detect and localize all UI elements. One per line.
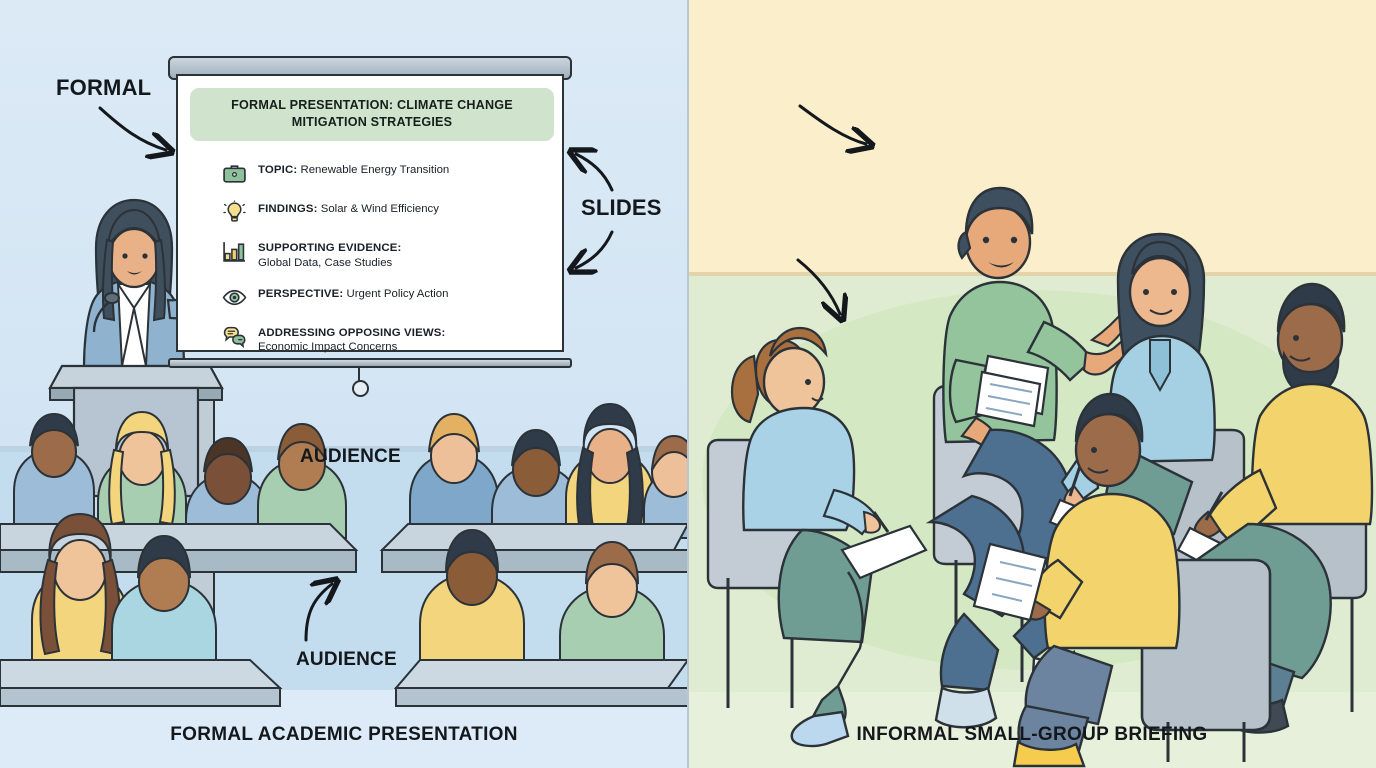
bullet-label: PERSPECTIVE: bbox=[258, 288, 343, 300]
slide-bullet-findings: FINDINGS: Solar & Wind Efficiency bbox=[222, 199, 552, 225]
note-cards bbox=[976, 356, 1048, 426]
projector-bottom-bar bbox=[168, 358, 572, 368]
label-audience-top: AUDIENCE bbox=[300, 447, 401, 467]
slide-bullet-list: TOPIC: Renewable Energy Transition FINDI… bbox=[222, 160, 552, 368]
bullet-value: Renewable Energy Transition bbox=[300, 164, 449, 176]
panel-divider bbox=[687, 0, 689, 768]
annotation-arrows-right bbox=[798, 106, 866, 314]
informal-briefing-panel: INFORMAL BRIEFING: COMMUNITY RECYCLING I… bbox=[688, 0, 1376, 768]
slide-title: FORMAL PRESENTATION: CLIMATE CHANGE MITI… bbox=[190, 88, 554, 141]
lightbulb-icon bbox=[222, 200, 247, 225]
bullet-value: Urgent Policy Action bbox=[347, 288, 449, 300]
bullet-label: ADDRESSING OPPOSING VIEWS: bbox=[258, 327, 445, 339]
eye-icon bbox=[222, 285, 247, 310]
bullet-value: Economic Impact Concerns bbox=[258, 341, 397, 353]
slide-bullet-evidence: SUPPORTING EVIDENCE:Global Data, Case St… bbox=[222, 238, 552, 271]
participant-left bbox=[708, 328, 926, 746]
bullet-value: Global Data, Case Studies bbox=[258, 257, 392, 269]
projector-pull-ring[interactable] bbox=[352, 380, 369, 397]
caption-informal: INFORMAL SMALL-GROUP BRIEFING bbox=[688, 724, 1376, 746]
bullet-label: TOPIC: bbox=[258, 164, 297, 176]
participant-right-back bbox=[1050, 234, 1244, 702]
illustration-canvas: FORMAL PRESENTATION: CLIMATE CHANGE MITI… bbox=[0, 0, 1376, 768]
slide-bullet-topic: TOPIC: Renewable Energy Transition bbox=[222, 160, 552, 186]
briefcase-icon bbox=[222, 161, 247, 186]
bullet-label: SUPPORTING EVIDENCE: bbox=[258, 242, 402, 254]
small-group-scene bbox=[688, 0, 1376, 768]
slide-bullet-perspective: PERSPECTIVE: Urgent Policy Action bbox=[222, 284, 552, 310]
bullet-label: FINDINGS: bbox=[258, 203, 318, 215]
formal-presentation-panel: FORMAL PRESENTATION: CLIMATE CHANGE MITI… bbox=[0, 0, 688, 768]
bullet-value: Solar & Wind Efficiency bbox=[321, 203, 439, 215]
audience-back-row bbox=[0, 404, 688, 572]
participant-right-bearded bbox=[1178, 284, 1372, 733]
participant-front-yellow bbox=[974, 394, 1270, 766]
slide-bullet-opposing-views: ADDRESSING OPPOSING VIEWS:Economic Impac… bbox=[222, 323, 552, 356]
speech-bubbles-icon bbox=[222, 324, 247, 349]
bar-chart-icon bbox=[222, 239, 247, 264]
label-formal: FORMAL bbox=[56, 76, 151, 99]
projector-screen: FORMAL PRESENTATION: CLIMATE CHANGE MITI… bbox=[176, 74, 564, 352]
audience-front-row bbox=[0, 514, 688, 706]
presenter-figure-informal bbox=[930, 188, 1138, 727]
caption-formal: FORMAL ACADEMIC PRESENTATION bbox=[0, 724, 688, 746]
label-slides: SLIDES bbox=[581, 196, 662, 219]
label-audience-bottom: AUDIENCE bbox=[296, 650, 397, 670]
